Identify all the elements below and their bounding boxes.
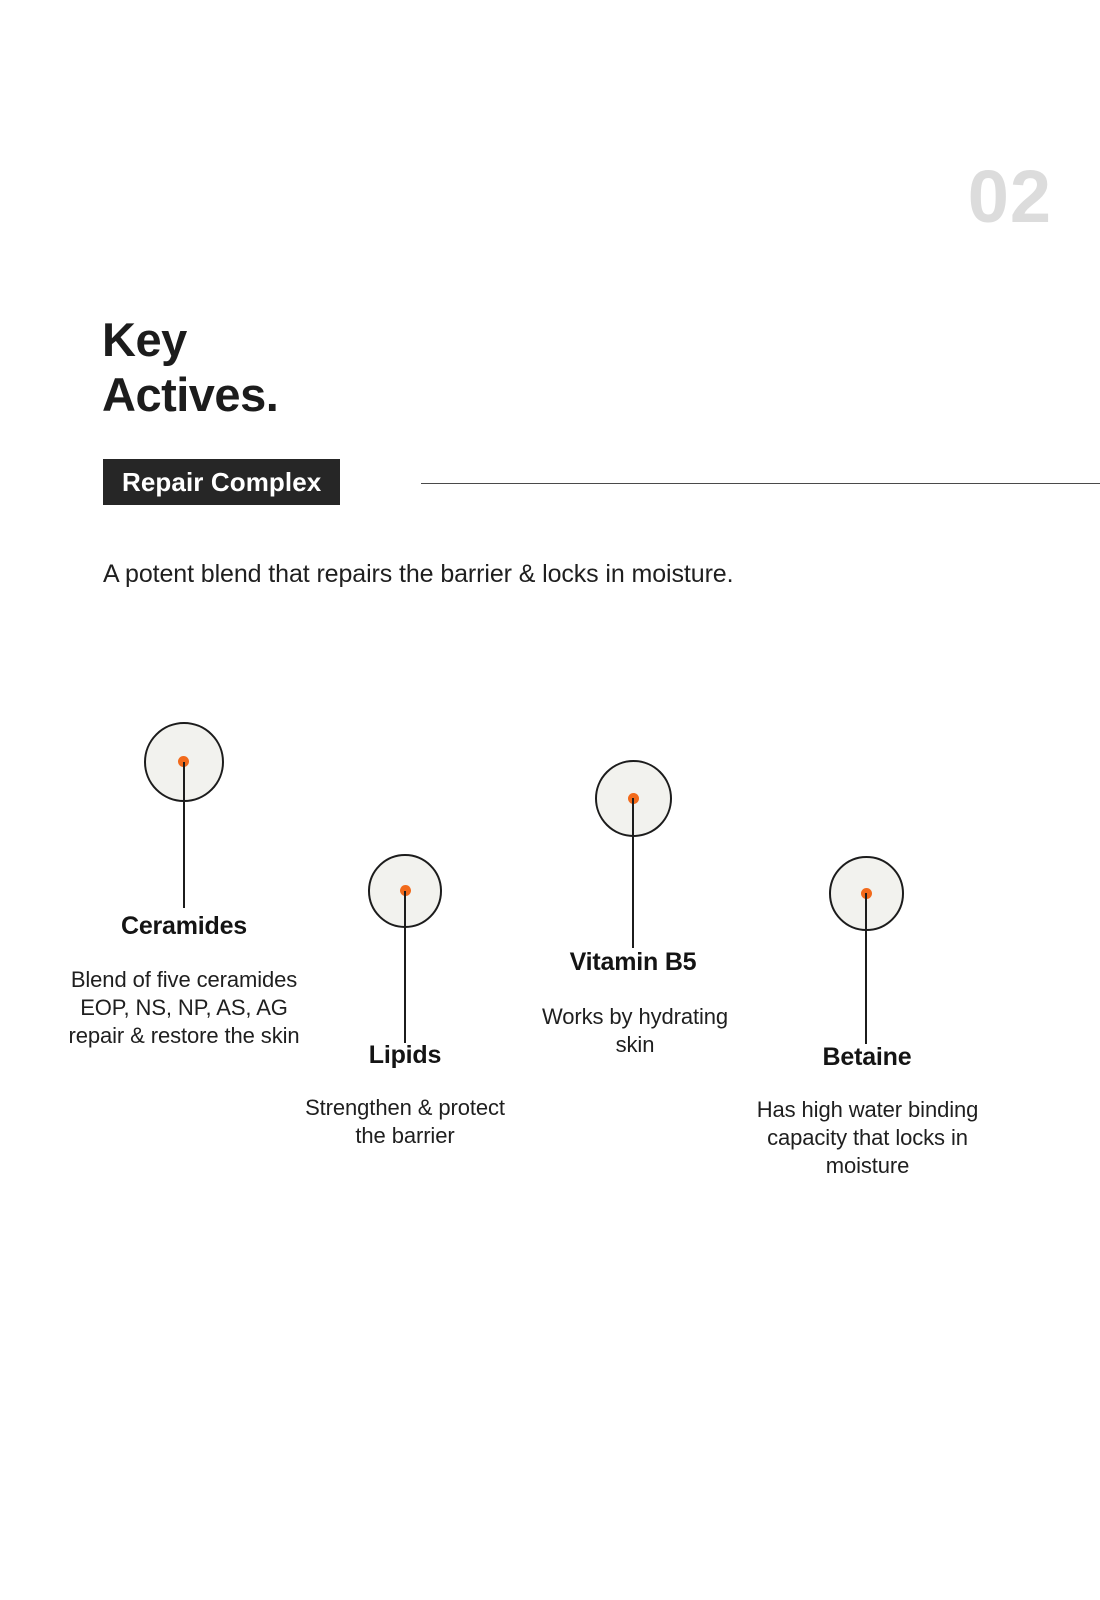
key-actives-diagram: Ceramides Blend of five ceramides EOP, N…	[0, 0, 1100, 1600]
active-description-lipids: Strengthen & protect the barrier	[300, 1094, 510, 1150]
active-marker-dot-icon	[861, 888, 872, 899]
active-label-ceramides: Ceramides	[44, 912, 324, 941]
active-marker-circle-icon	[595, 760, 672, 837]
section-badge: Repair Complex	[103, 459, 340, 505]
active-marker-circle-icon	[144, 722, 224, 802]
page-title-line-1: Key	[102, 313, 278, 368]
section-divider-line	[421, 483, 1100, 484]
active-marker-dot-icon	[400, 885, 411, 896]
section-subtitle: A potent blend that repairs the barrier …	[103, 560, 733, 589]
active-connector-line	[632, 798, 634, 948]
active-connector-line	[183, 762, 185, 908]
active-connector-line	[404, 891, 406, 1043]
active-description-ceramides: Blend of five ceramides EOP, NS, NP, AS,…	[54, 966, 314, 1050]
page-number: 02	[968, 160, 1052, 234]
active-marker-circle-icon	[829, 856, 904, 931]
active-label-betaine: Betaine	[752, 1043, 982, 1072]
active-description-vitamin-b5: Works by hydrating skin	[540, 1003, 730, 1059]
section-header: Repair Complex	[0, 459, 1100, 505]
active-marker-dot-icon	[178, 756, 189, 767]
page-title-line-2: Actives.	[102, 368, 278, 423]
active-marker-dot-icon	[628, 793, 639, 804]
active-label-lipids: Lipids	[290, 1041, 520, 1070]
active-label-vitamin-b5: Vitamin B5	[518, 948, 748, 977]
page-title: Key Actives.	[102, 313, 278, 422]
active-connector-line	[865, 893, 867, 1044]
active-description-betaine: Has high water binding capacity that loc…	[735, 1096, 1000, 1180]
active-marker-circle-icon	[368, 854, 442, 928]
